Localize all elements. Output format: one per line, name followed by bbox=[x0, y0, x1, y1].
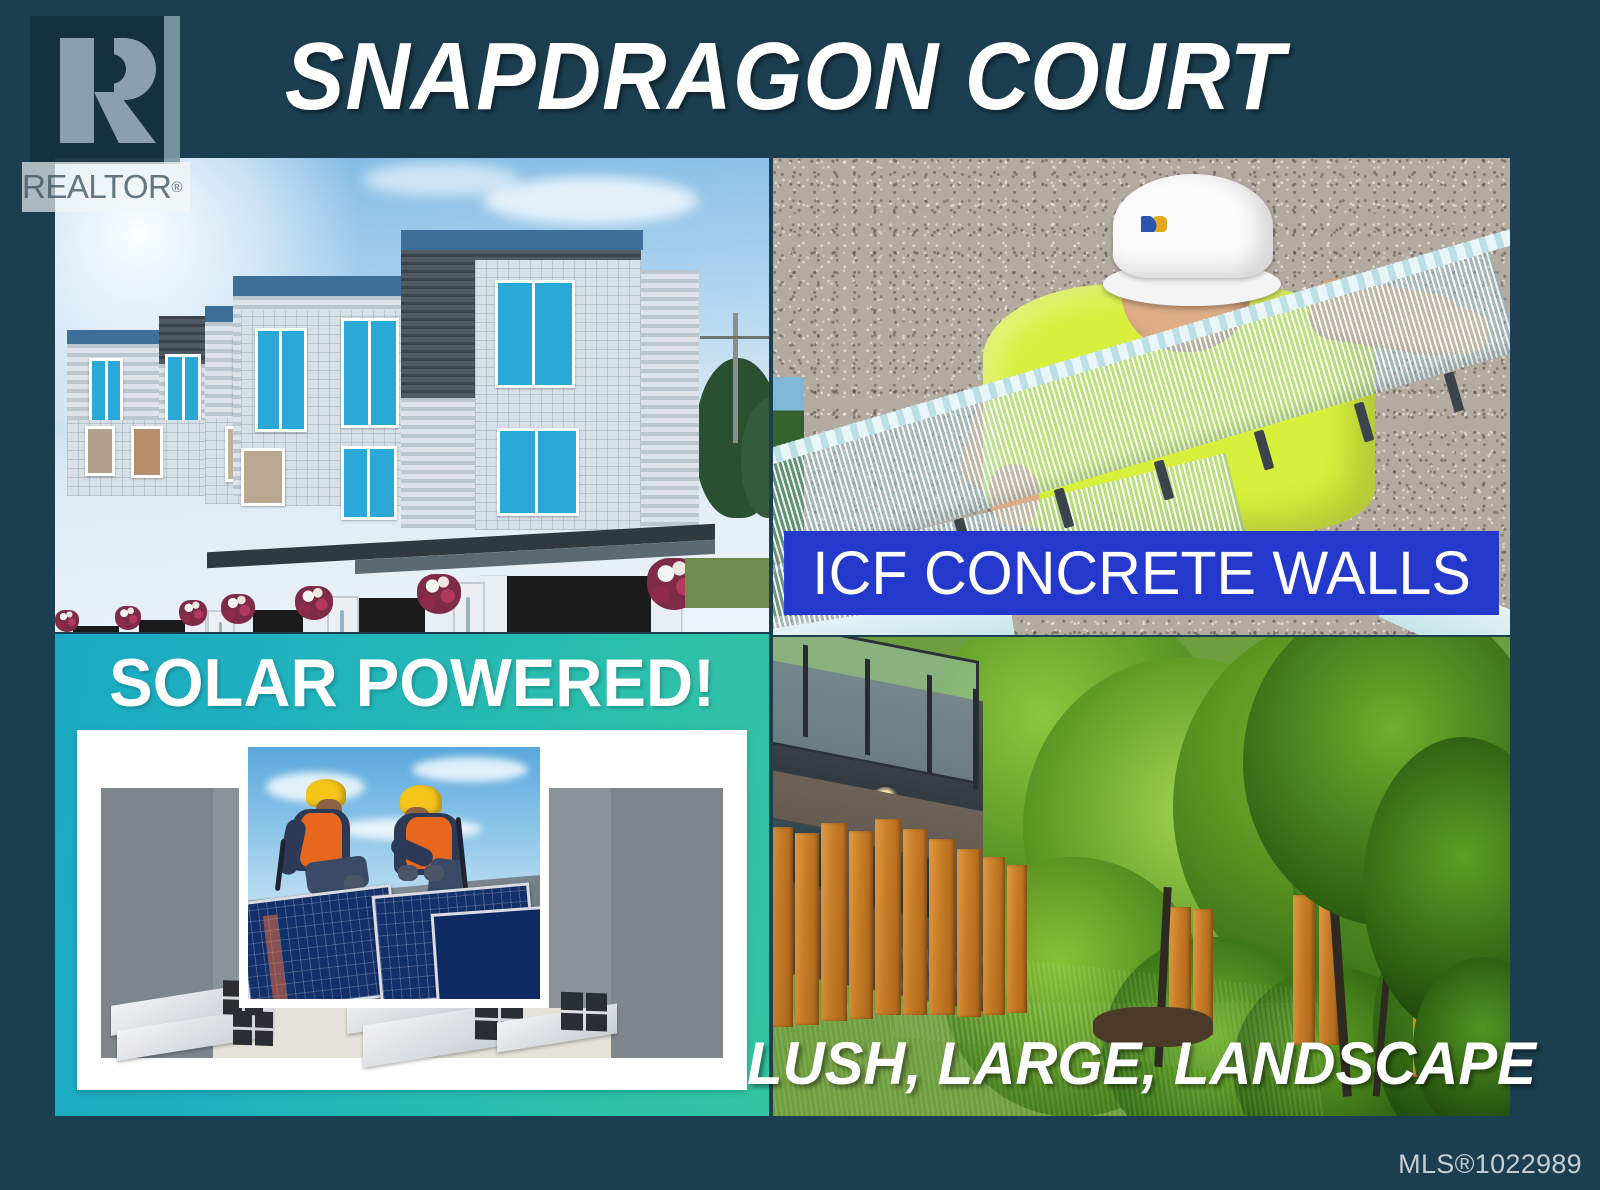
mls-number: MLS®1022989 bbox=[1398, 1149, 1582, 1180]
banner-icf-concrete-walls: ICF CONCRETE WALLS bbox=[784, 531, 1499, 615]
banner-solar-powered: SOLAR POWERED! bbox=[69, 646, 754, 720]
banner-lush-large-landscape: LUSH, LARGE, LANDSCAPE bbox=[784, 1022, 1499, 1104]
fence-board bbox=[929, 839, 955, 1015]
fence-board bbox=[875, 819, 901, 1015]
gray-block-right bbox=[611, 788, 723, 1058]
railing-post bbox=[973, 689, 978, 790]
utility-pole bbox=[733, 313, 738, 443]
garage-door bbox=[355, 598, 429, 632]
solar-graphic-card bbox=[77, 730, 747, 1090]
flyer-header: SNAPDRAGON COURT bbox=[0, 0, 1600, 158]
page-title: SNAPDRAGON COURT bbox=[232, 16, 1339, 138]
lawn-patch bbox=[685, 558, 769, 608]
hard-hat bbox=[1113, 174, 1273, 278]
flower-basket bbox=[221, 594, 255, 624]
fence-board bbox=[903, 829, 927, 1015]
fence-board bbox=[983, 857, 1005, 1015]
panel-solar-powered: SOLAR POWERED! bbox=[55, 634, 769, 1116]
flower-basket bbox=[417, 574, 461, 614]
fence-board bbox=[821, 823, 847, 1021]
realtor-logo-watermark: REALTOR® bbox=[22, 16, 190, 212]
fence-board bbox=[795, 833, 819, 1025]
solar-panel bbox=[431, 904, 549, 1008]
solar-installers-photo bbox=[239, 738, 549, 1008]
fence-board bbox=[849, 831, 873, 1019]
garage-door-open bbox=[503, 576, 653, 632]
flower-basket bbox=[115, 606, 141, 630]
flower-basket bbox=[295, 586, 333, 620]
listing-flyer: SNAPDRAGON COURT REALTOR® bbox=[0, 0, 1600, 1190]
photo-townhomes-exterior bbox=[55, 158, 769, 632]
fence-board bbox=[957, 849, 981, 1017]
hard-hat-logo bbox=[1141, 216, 1167, 232]
fence-board bbox=[1007, 865, 1027, 1013]
cloud-shape bbox=[362, 163, 519, 196]
registered-mark: ® bbox=[171, 179, 182, 196]
realtor-wordmark: REALTOR® bbox=[22, 162, 190, 212]
railing-post bbox=[927, 675, 932, 774]
flower-basket bbox=[55, 610, 79, 632]
flower-basket bbox=[179, 600, 207, 626]
realtor-brand-text: REALTOR bbox=[22, 168, 171, 206]
railing-post bbox=[865, 659, 870, 756]
realtor-r-icon bbox=[30, 16, 178, 164]
power-line bbox=[700, 336, 769, 339]
fence-board bbox=[773, 827, 793, 1027]
railing-post bbox=[803, 645, 808, 738]
